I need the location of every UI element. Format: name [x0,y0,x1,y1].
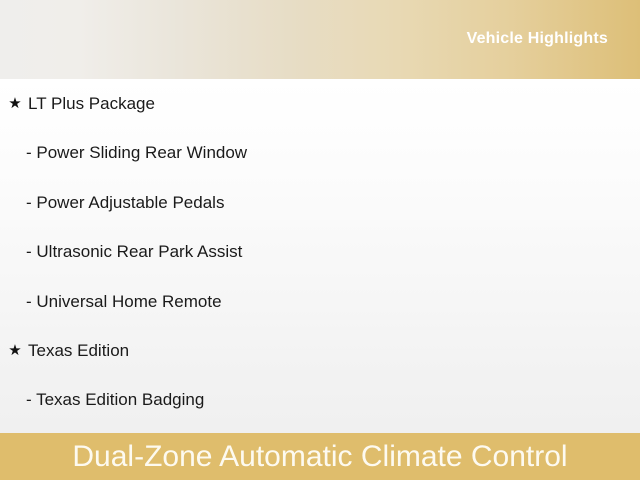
footer-caption: Dual-Zone Automatic Climate Control [0,433,640,480]
list-item: ★LT Plus Package [0,79,640,128]
page-title: Vehicle Highlights [467,30,608,48]
feature-list: ★LT Plus Package- Power Sliding Rear Win… [0,79,640,425]
list-item-label: - Texas Edition Badging [26,375,204,424]
list-item: - Power Adjustable Pedals [0,178,640,227]
list-item-label: Texas Edition [28,326,129,375]
list-item-label: - Power Sliding Rear Window [26,128,247,177]
list-item: ★Texas Edition [0,326,640,375]
slide-header: Vehicle Highlights [0,0,640,79]
star-bullet-icon: ★ [8,79,22,128]
list-item: - Texas Edition Badging [0,375,640,424]
footer-banner: Dual-Zone Automatic Climate Control [0,433,640,480]
list-item-label: - Power Adjustable Pedals [26,178,224,227]
highlights-body: ★LT Plus Package- Power Sliding Rear Win… [0,79,640,433]
list-item: - Ultrasonic Rear Park Assist [0,227,640,276]
list-item-label: - Universal Home Remote [26,277,222,326]
list-item-label: - Ultrasonic Rear Park Assist [26,227,242,276]
list-item: - Universal Home Remote [0,277,640,326]
list-item-label: LT Plus Package [28,79,155,128]
vehicle-highlights-slide: Vehicle Highlights ★LT Plus Package- Pow… [0,0,640,480]
star-bullet-icon: ★ [8,326,22,375]
list-item: - Power Sliding Rear Window [0,128,640,177]
